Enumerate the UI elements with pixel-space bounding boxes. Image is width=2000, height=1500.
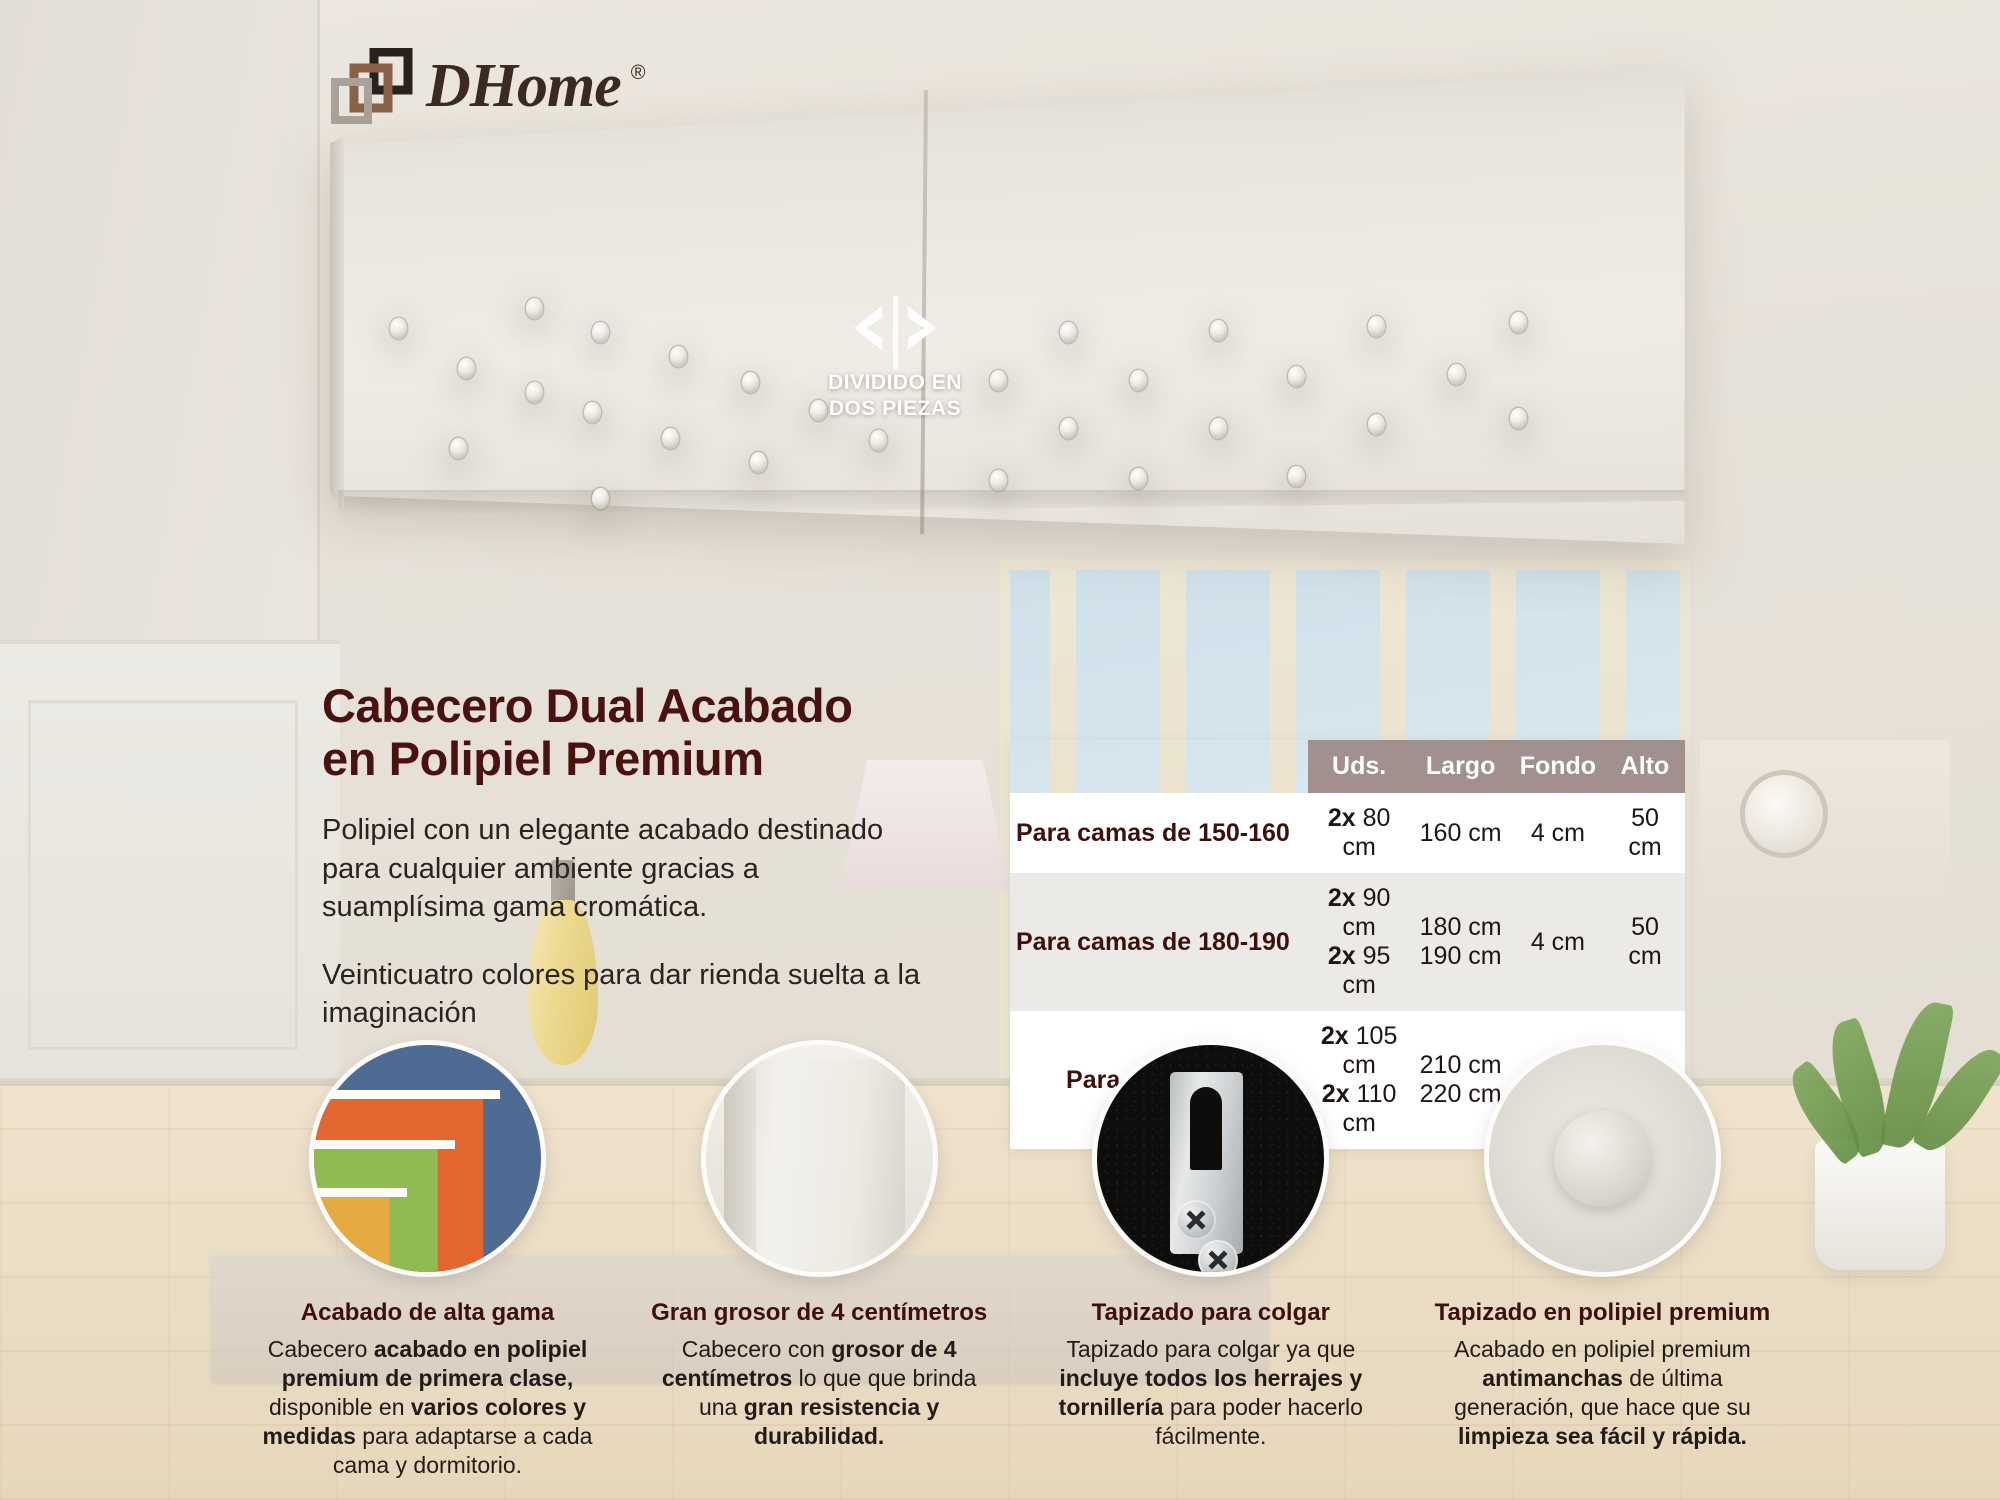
table-header-blank [1010, 740, 1308, 793]
wainscot-moulding [28, 700, 298, 1050]
product-title-line1: Cabecero Dual Acabado [322, 679, 853, 732]
wall-bracket-icon [1092, 1040, 1329, 1277]
tuft-button [584, 402, 601, 423]
table-cell-alto: 50 cm [1605, 793, 1685, 873]
tuft-button [458, 358, 475, 379]
feature-description: Cabecero con grosor de 4 centímetros lo … [642, 1335, 997, 1451]
table-row: Para camas de 150-160 2x 80 cm 160 cm 4 … [1010, 793, 1685, 873]
feature-title: Acabado de alta gama [250, 1299, 605, 1327]
wall-clock [1740, 770, 1828, 858]
tuft-button [1060, 418, 1077, 439]
feature-item: Tapizado en polipiel premium Acabado en … [1425, 1040, 1780, 1480]
table-header-alto: Alto [1605, 740, 1685, 793]
product-description-block: Cabecero Dual Acabado en Polipiel Premiu… [322, 680, 922, 1033]
feature-item: Gran grosor de 4 centímetros Cabecero co… [642, 1040, 997, 1480]
tuft-button [1210, 320, 1227, 341]
tuft-button [1130, 370, 1147, 391]
tuft-button [742, 372, 759, 393]
tuft-button [750, 452, 767, 473]
tuft-button [1448, 364, 1465, 385]
tuft-button [670, 346, 687, 367]
table-cell-fondo: 4 cm [1511, 793, 1605, 873]
tuft-button [1368, 414, 1385, 435]
product-title-line2: en Polipiel Premium [322, 732, 764, 785]
tuft-button [1288, 466, 1305, 487]
tuft-button [1510, 312, 1527, 333]
table-header-fondo: Fondo [1511, 740, 1605, 793]
feature-title: Tapizado en polipiel premium [1425, 1299, 1780, 1327]
tuft-button [662, 428, 679, 449]
split-badge-line1: DIVIDIDO EN [790, 370, 1000, 396]
description-paragraph-2: Veinticuatro colores para dar rienda sue… [322, 956, 922, 1033]
feature-description: Acabado en polipiel premium antimanchas … [1425, 1335, 1780, 1451]
tuft-button [1060, 322, 1077, 343]
split-badge-line2: DOS PIEZAS [790, 396, 1000, 422]
tuft-button [526, 382, 543, 403]
tuft-button [1368, 316, 1385, 337]
tuft-button [450, 438, 467, 459]
feature-description: Tapizado para colgar ya que incluye todo… [1033, 1335, 1388, 1451]
tuft-button [592, 322, 609, 343]
feature-description: Cabecero acabado en polipiel premium de … [250, 1335, 605, 1480]
table-header-uds: Uds. [1308, 740, 1411, 793]
page-title: Cabecero Dual Acabado en Polipiel Premiu… [322, 680, 922, 785]
tuft-button [1288, 366, 1305, 387]
table-row: Para camas de 180-190 2x 90 cm2x 95 cm 1… [1010, 873, 1685, 1011]
feature-title: Gran grosor de 4 centímetros [642, 1299, 997, 1327]
tuft-button [526, 298, 543, 319]
table-cell-alto: 50 cm [1605, 873, 1685, 1011]
table-cell-uds: 2x 90 cm2x 95 cm [1308, 873, 1411, 1011]
nightstand [1700, 740, 1950, 940]
headboard-left-edge [330, 136, 344, 508]
feature-highlights: Acabado de alta gama Cabecero acabado en… [250, 1040, 1780, 1480]
headboard-thickness-icon [701, 1040, 938, 1277]
table-cell-uds: 2x 80 cm [1308, 793, 1411, 873]
tuft-button [1130, 468, 1147, 489]
tuft-button [870, 430, 887, 451]
table-cell-fondo: 4 cm [1511, 873, 1605, 1011]
tuft-button [1210, 418, 1227, 439]
headboard-body [330, 70, 1690, 670]
table-cell-label: Para camas de 150-160 [1010, 793, 1308, 873]
button-tuft-icon [1484, 1040, 1721, 1277]
table-cell-largo: 160 cm [1410, 793, 1510, 873]
tuft-button [990, 470, 1007, 491]
table-header-row: Uds. Largo Fondo Alto [1010, 740, 1685, 793]
tuft-button [1510, 408, 1527, 429]
tuft-button [390, 318, 407, 339]
description-paragraph-1: Polipiel con un elegante acabado destina… [322, 811, 922, 926]
fabric-swatches-icon [309, 1040, 546, 1277]
divided-in-two-badge: DIVIDIDO EN DOS PIEZAS [790, 300, 1000, 421]
split-arrows-icon [820, 300, 970, 356]
table-cell-largo: 180 cm190 cm [1410, 873, 1510, 1011]
plant-pot [1815, 1140, 1945, 1270]
table-header-largo: Largo [1410, 740, 1510, 793]
headboard-product-image [330, 70, 1690, 670]
tuft-button [592, 488, 609, 509]
feature-item: Tapizado para colgar Tapizado para colga… [1033, 1040, 1388, 1480]
feature-item: Acabado de alta gama Cabecero acabado en… [250, 1040, 605, 1480]
table-cell-label: Para camas de 180-190 [1010, 873, 1308, 1011]
feature-title: Tapizado para colgar [1033, 1299, 1388, 1327]
